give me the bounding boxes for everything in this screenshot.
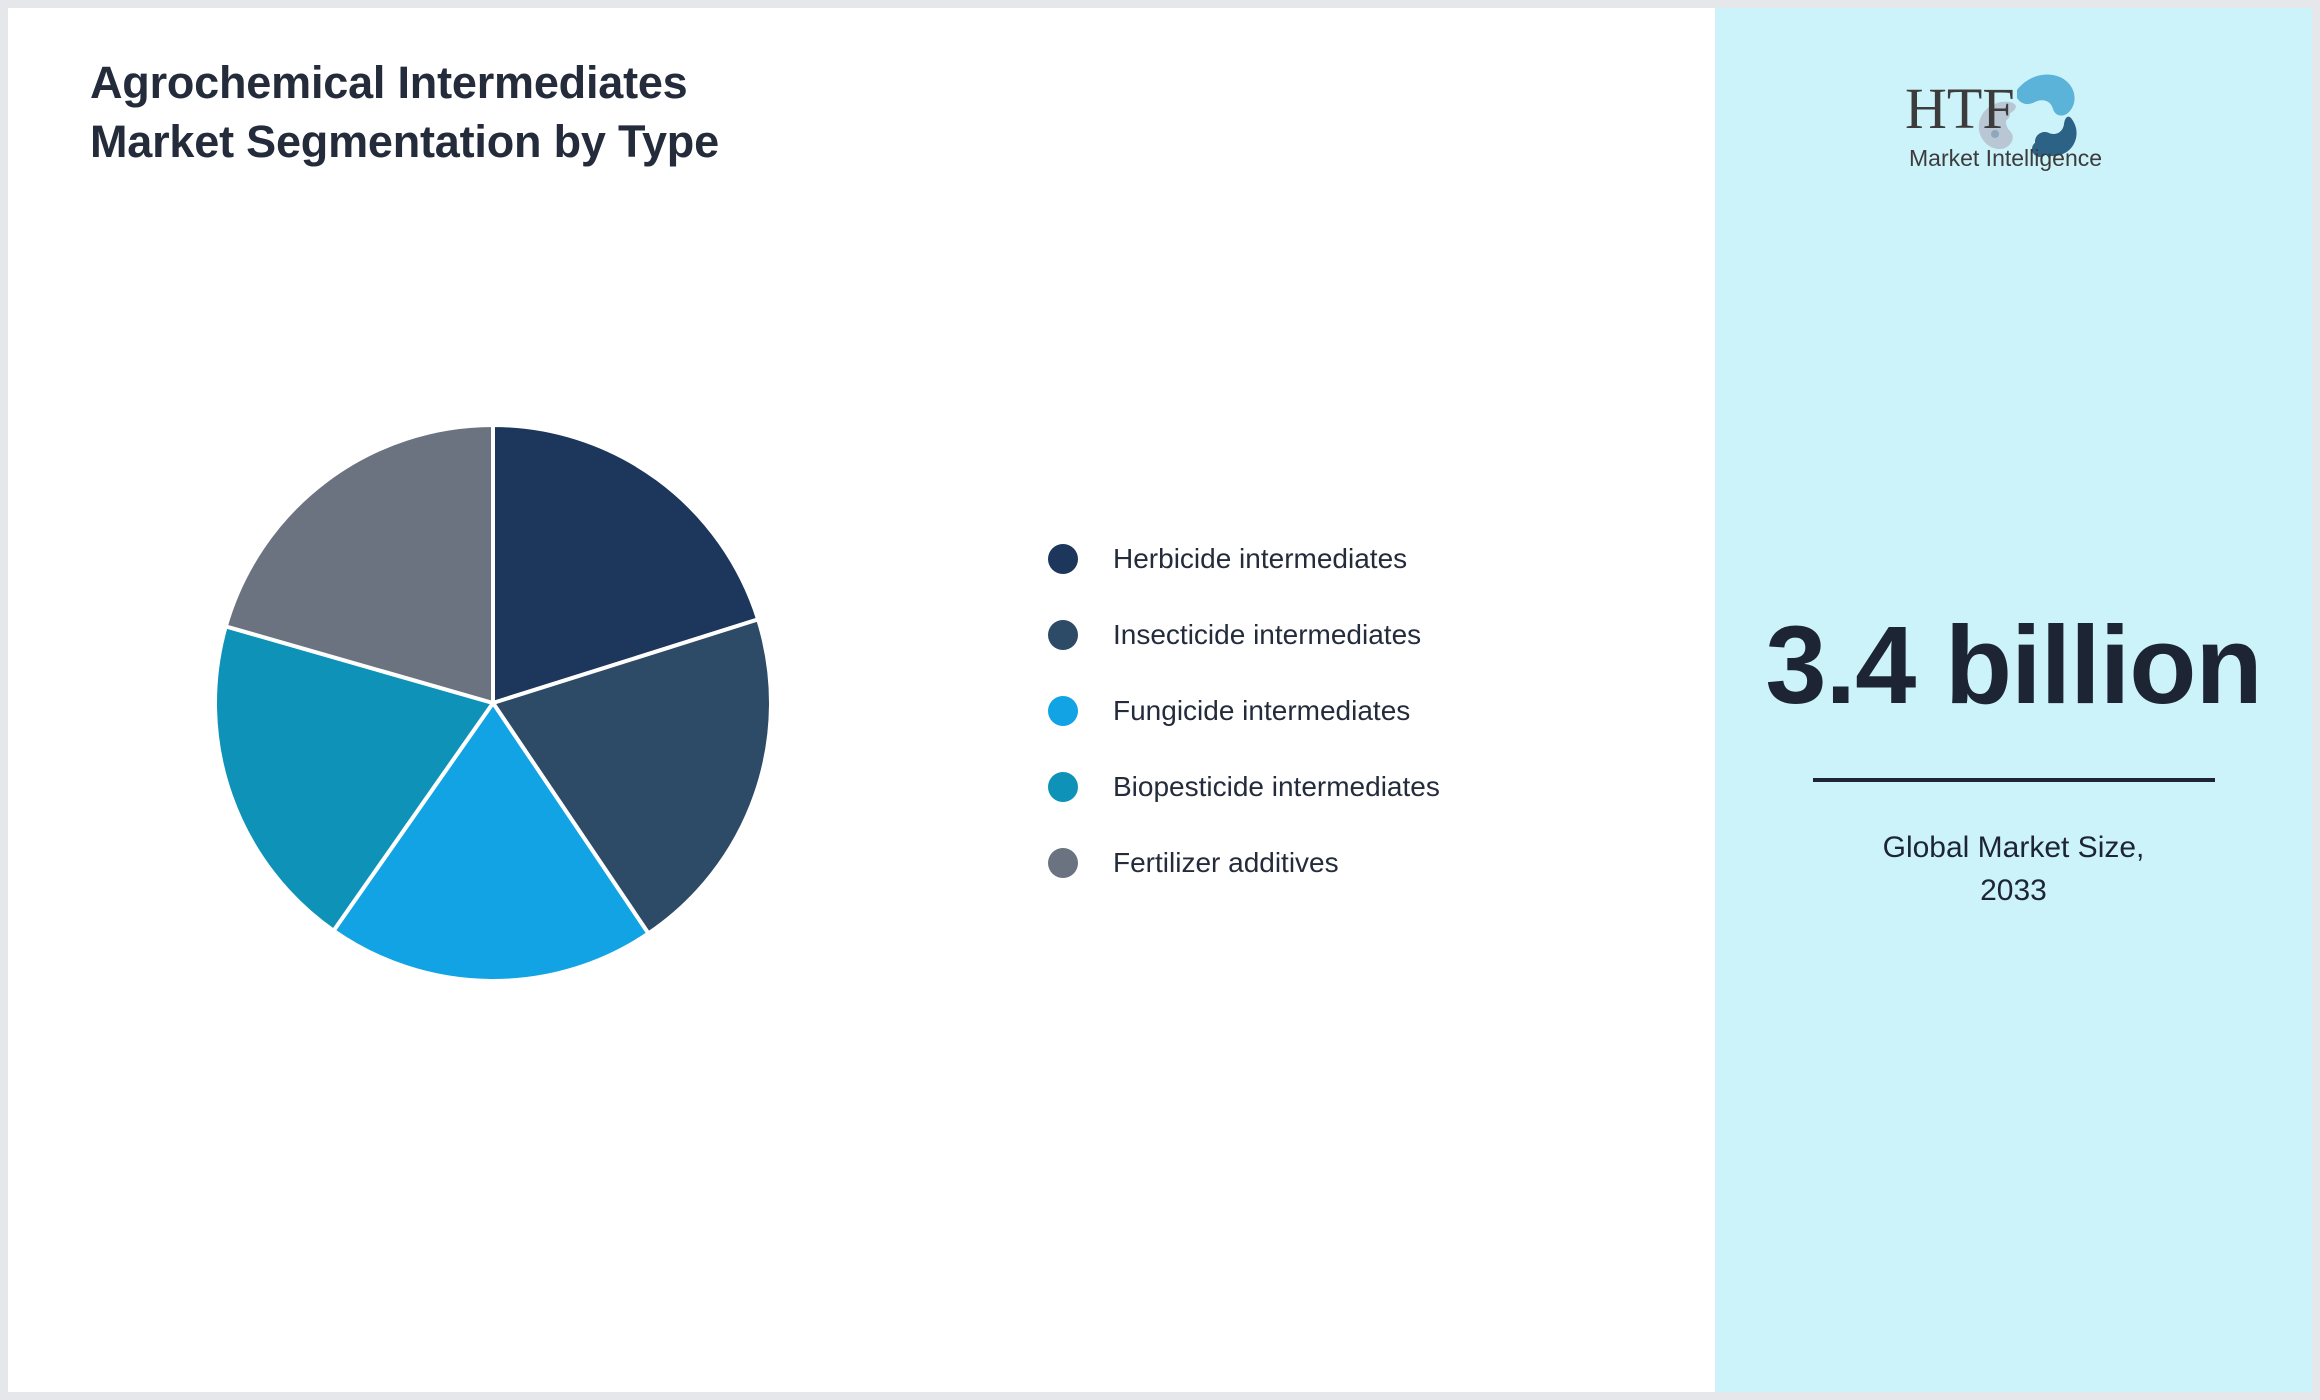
- legend-item-herbicide-intermediates[interactable]: Herbicide intermediates: [1048, 533, 1440, 585]
- legend-label-biopesticide-intermediates: Biopesticide intermediates: [1113, 771, 1440, 803]
- divider: [1813, 778, 2215, 782]
- market-size-value: 3.4 billion: [1765, 608, 2261, 724]
- logo-svg: HTF Market Intelligence: [1899, 56, 2129, 181]
- legend-item-fungicide-intermediates[interactable]: Fungicide intermediates: [1048, 685, 1440, 737]
- legend-swatch-insecticide-intermediates: [1048, 620, 1078, 650]
- legend-swatch-fertilizer-additives: [1048, 848, 1078, 878]
- chart-legend: Herbicide intermediates Insecticide inte…: [1048, 533, 1440, 889]
- market-size-block: 3.4 billion Global Market Size, 2033: [1715, 608, 2312, 913]
- legend-item-insecticide-intermediates[interactable]: Insecticide intermediates: [1048, 609, 1440, 661]
- pie-chart: [203, 413, 783, 993]
- page-title: Agrochemical Intermediates Market Segmen…: [90, 53, 1190, 172]
- legend-swatch-biopesticide-intermediates: [1048, 772, 1078, 802]
- chart-panel: Agrochemical Intermediates Market Segmen…: [8, 8, 1715, 1392]
- legend-label-herbicide-intermediates: Herbicide intermediates: [1113, 543, 1407, 575]
- legend-item-biopesticide-intermediates[interactable]: Biopesticide intermediates: [1048, 761, 1440, 813]
- infographic-canvas: Agrochemical Intermediates Market Segmen…: [0, 0, 2320, 1400]
- logo-tagline: Market Intelligence: [1909, 145, 2102, 171]
- summary-panel: HTF Market Intelligence 3.4 billion Glob…: [1715, 8, 2312, 1392]
- logo-wordmark: HTF: [1905, 76, 2015, 141]
- legend-swatch-fungicide-intermediates: [1048, 696, 1078, 726]
- legend-label-insecticide-intermediates: Insecticide intermediates: [1113, 619, 1421, 651]
- legend-label-fungicide-intermediates: Fungicide intermediates: [1113, 695, 1410, 727]
- market-size-caption: Global Market Size, 2033: [1849, 826, 2179, 913]
- legend-item-fertilizer-additives[interactable]: Fertilizer additives: [1048, 837, 1440, 889]
- htf-market-intelligence-logo[interactable]: HTF Market Intelligence: [1899, 56, 2129, 181]
- pie-chart-svg: [203, 413, 783, 993]
- legend-swatch-herbicide-intermediates: [1048, 544, 1078, 574]
- legend-label-fertilizer-additives: Fertilizer additives: [1113, 847, 1339, 879]
